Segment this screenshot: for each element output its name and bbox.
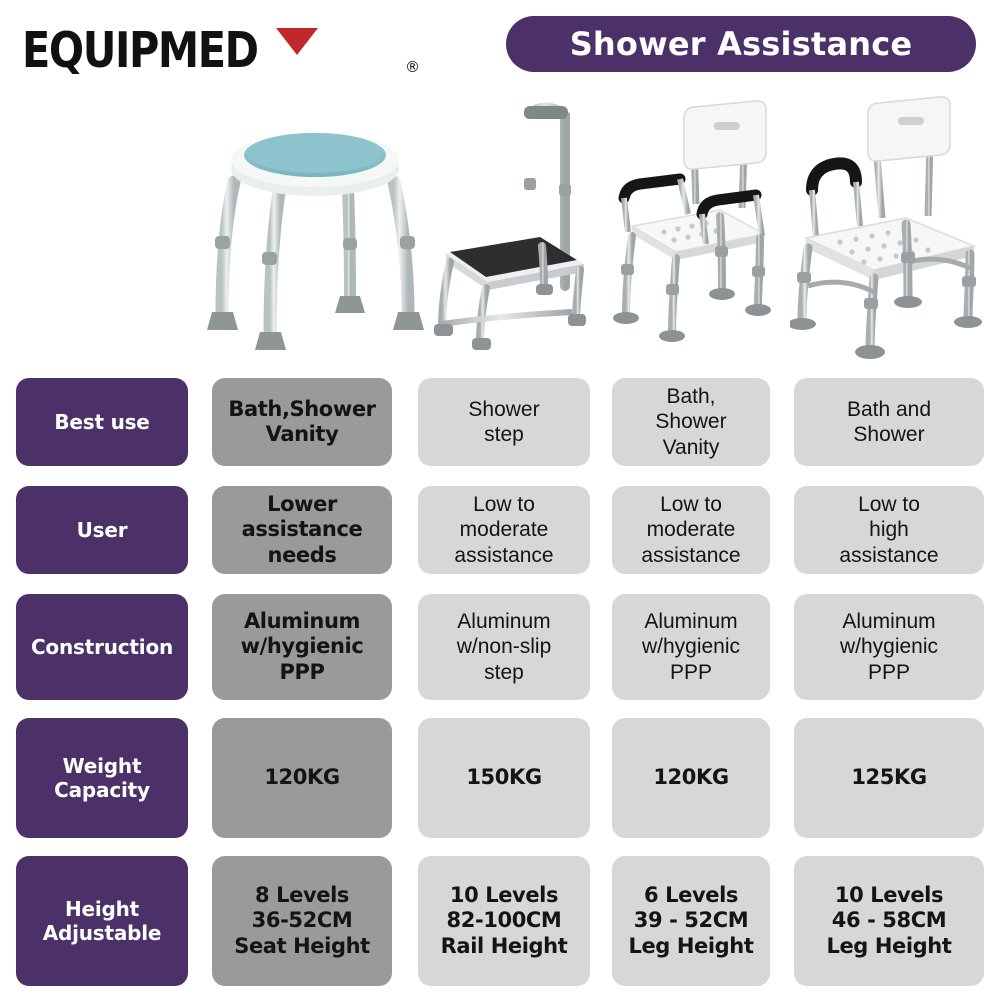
comparison-table: Best use Bath,Shower Vanity Shower step … bbox=[0, 370, 1000, 1000]
product-image-round-shower-stool bbox=[198, 86, 433, 366]
row-label-text: Weight Capacity bbox=[54, 754, 150, 803]
logo-wordmark: EQUIPMED bbox=[22, 22, 258, 79]
cell-weight-capacity-product-1: 120KG bbox=[212, 718, 392, 838]
cell-text: 10 Levels 46 - 58CM Leg Height bbox=[826, 883, 951, 959]
cell-best-use-product-3: Bath, Shower Vanity bbox=[612, 378, 770, 466]
cell-height-adjustable-product-3: 6 Levels 39 - 52CM Leg Height bbox=[612, 856, 770, 986]
cell-construction-product-1: Aluminum w/hygienic PPP bbox=[212, 594, 392, 700]
product-image-transfer-bench bbox=[790, 86, 990, 366]
cell-best-use-product-1: Bath,Shower Vanity bbox=[212, 378, 392, 466]
cell-weight-capacity-product-4: 125KG bbox=[794, 718, 984, 838]
cell-text: Low to moderate assistance bbox=[641, 492, 740, 568]
cell-text: 120KG bbox=[653, 765, 728, 790]
cell-construction-product-4: Aluminum w/hygienic PPP bbox=[794, 594, 984, 700]
cell-user-product-2: Low to moderate assistance bbox=[418, 486, 590, 574]
cell-text: Aluminum w/hygienic PPP bbox=[840, 609, 938, 685]
cell-best-use-product-4: Bath and Shower bbox=[794, 378, 984, 466]
table-row: Weight Capacity 120KG 150KG 120KG 125KG bbox=[0, 718, 1000, 838]
equipmed-logo: EQUIPMED ® bbox=[22, 18, 442, 74]
cell-text: Bath,Shower Vanity bbox=[228, 397, 375, 447]
registered-trademark-icon: ® bbox=[405, 58, 420, 76]
cell-height-adjustable-product-2: 10 Levels 82-100CM Rail Height bbox=[418, 856, 590, 986]
table-row: Best use Bath,Shower Vanity Shower step … bbox=[0, 378, 1000, 466]
cell-text: 120KG bbox=[264, 765, 339, 790]
cell-text: Aluminum w/hygienic PPP bbox=[642, 609, 740, 685]
logo-triangle-icon bbox=[276, 28, 318, 55]
cell-best-use-product-2: Shower step bbox=[418, 378, 590, 466]
row-label-height-adjustable: Height Adjustable bbox=[16, 856, 188, 986]
cell-weight-capacity-product-2: 150KG bbox=[418, 718, 590, 838]
table-row: Height Adjustable 8 Levels 36-52CM Seat … bbox=[0, 856, 1000, 986]
row-label-text: Best use bbox=[54, 410, 149, 434]
cell-text: Low to high assistance bbox=[839, 492, 938, 568]
page-title-banner: Shower Assistance bbox=[506, 16, 976, 72]
cell-text: 150KG bbox=[466, 765, 541, 790]
row-label-text: Construction bbox=[31, 635, 173, 659]
cell-weight-capacity-product-3: 120KG bbox=[612, 718, 770, 838]
cell-text: Bath and Shower bbox=[847, 397, 931, 447]
cell-user-product-4: Low to high assistance bbox=[794, 486, 984, 574]
page-header: EQUIPMED ® Shower Assistance bbox=[0, 0, 1000, 92]
table-row: User Lower assistance needs Low to moder… bbox=[0, 486, 1000, 574]
table-row: Construction Aluminum w/hygienic PPP Alu… bbox=[0, 594, 1000, 700]
cell-user-product-3: Low to moderate assistance bbox=[612, 486, 770, 574]
cell-text: Low to moderate assistance bbox=[454, 492, 553, 568]
product-image-strip bbox=[0, 86, 1000, 366]
cell-construction-product-2: Aluminum w/non-slip step bbox=[418, 594, 590, 700]
row-label-text: User bbox=[77, 518, 128, 542]
product-image-shower-chair bbox=[602, 86, 792, 366]
cell-text: 125KG bbox=[851, 765, 926, 790]
cell-height-adjustable-product-4: 10 Levels 46 - 58CM Leg Height bbox=[794, 856, 984, 986]
cell-text: 10 Levels 82-100CM Rail Height bbox=[441, 883, 568, 959]
cell-text: 6 Levels 39 - 52CM Leg Height bbox=[628, 883, 753, 959]
cell-text: Bath, Shower Vanity bbox=[655, 384, 726, 460]
cell-text: Shower step bbox=[468, 397, 539, 447]
row-label-text: Height Adjustable bbox=[43, 897, 162, 946]
product-image-step-stool bbox=[424, 86, 599, 366]
cell-user-product-1: Lower assistance needs bbox=[212, 486, 392, 574]
row-label-user: User bbox=[16, 486, 188, 574]
row-label-best-use: Best use bbox=[16, 378, 188, 466]
cell-height-adjustable-product-1: 8 Levels 36-52CM Seat Height bbox=[212, 856, 392, 986]
cell-text: Aluminum w/non-slip step bbox=[457, 609, 552, 685]
page-title: Shower Assistance bbox=[570, 25, 913, 63]
row-label-construction: Construction bbox=[16, 594, 188, 700]
cell-construction-product-3: Aluminum w/hygienic PPP bbox=[612, 594, 770, 700]
cell-text: Lower assistance needs bbox=[242, 492, 363, 568]
cell-text: Aluminum w/hygienic PPP bbox=[241, 609, 364, 685]
row-label-weight-capacity: Weight Capacity bbox=[16, 718, 188, 838]
cell-text: 8 Levels 36-52CM Seat Height bbox=[234, 883, 370, 959]
